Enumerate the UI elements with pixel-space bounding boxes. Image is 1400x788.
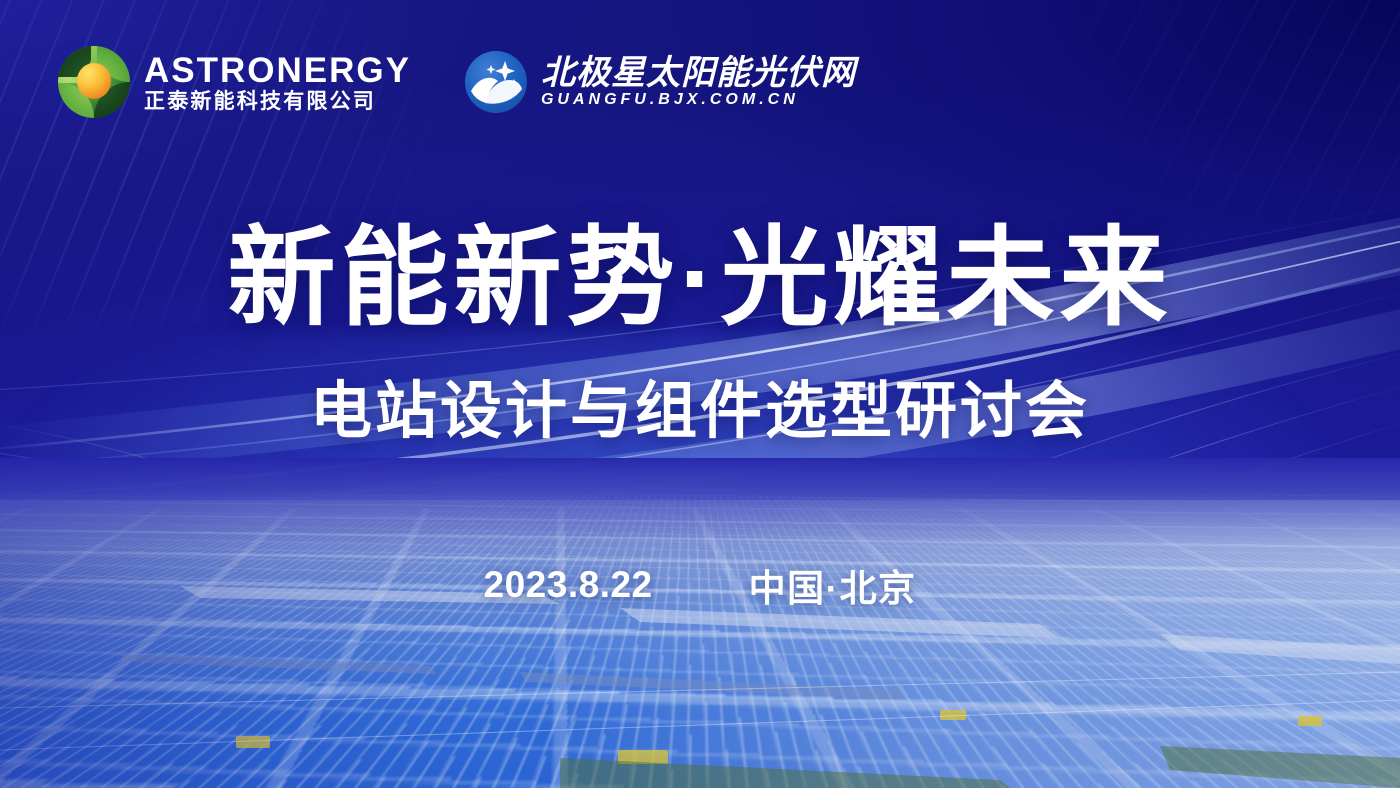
astronergy-english-name: ASTRONERGY bbox=[144, 53, 411, 88]
event-date: 2023.8.22 bbox=[484, 564, 653, 606]
astronergy-sphere-icon bbox=[58, 46, 130, 118]
logo-row: ASTRONERGY 正泰新能科技有限公司 北极星太阳能光伏网 GUANGFU.… bbox=[58, 46, 856, 118]
subtitle: 电站设计与组件选型研讨会 bbox=[0, 376, 1400, 447]
event-location: 中国·北京 bbox=[749, 558, 917, 612]
bjx-chinese-name: 北极星太阳能光伏网 bbox=[541, 56, 856, 90]
astronergy-chinese-name: 正泰新能科技有限公司 bbox=[144, 91, 411, 112]
photo-top-blend bbox=[0, 458, 1400, 568]
bjx-polaris-icon bbox=[465, 51, 527, 113]
main-title: 新能新势·光耀未来 bbox=[0, 218, 1400, 339]
solar-farm-photo bbox=[0, 458, 1400, 788]
astronergy-logo[interactable]: ASTRONERGY 正泰新能科技有限公司 bbox=[58, 46, 411, 118]
bjx-solar-logo[interactable]: 北极星太阳能光伏网 GUANGFU.BJX.COM.CN bbox=[465, 51, 856, 113]
event-meta-row: 2023.8.22 中国·北京 bbox=[0, 558, 1400, 612]
poster-canvas: ASTRONERGY 正泰新能科技有限公司 北极星太阳能光伏网 GUANGFU.… bbox=[0, 0, 1400, 788]
bjx-domain: GUANGFU.BJX.COM.CN bbox=[541, 92, 856, 108]
